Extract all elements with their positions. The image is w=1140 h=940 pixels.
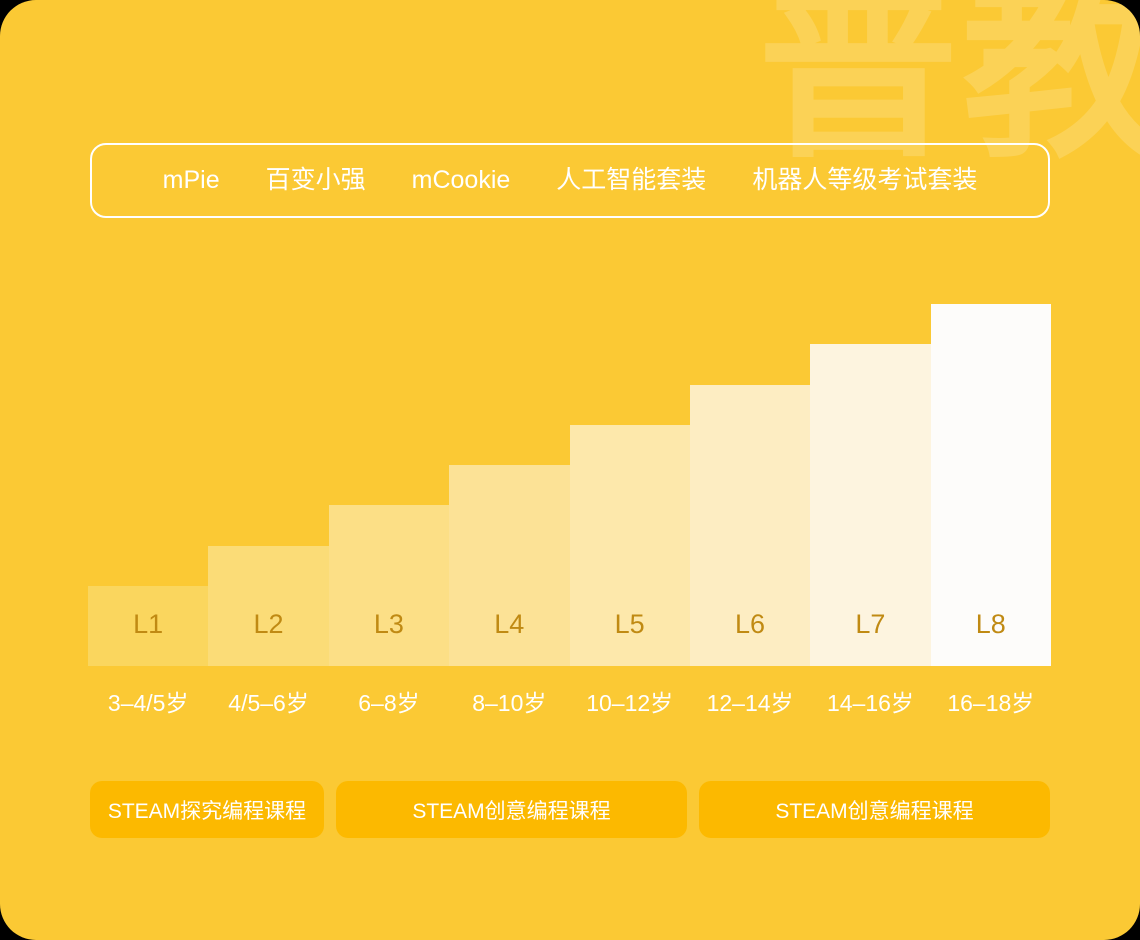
age-label: 16–18岁: [931, 692, 1051, 715]
bar-label: L7: [855, 611, 885, 666]
bar-l2: L2: [208, 546, 328, 666]
age-label: 12–14岁: [690, 692, 810, 715]
bar-label: L8: [976, 611, 1006, 666]
bar-label: L5: [615, 611, 645, 666]
bar-l3: L3: [329, 505, 449, 666]
age-range-axis: 3–4/5岁4/5–6岁6–8岁8–10岁10–12岁12–14岁14–16岁1…: [88, 692, 1051, 715]
bar-label: L6: [735, 611, 765, 666]
course-level-infographic: 普教 mPie百变小强mCookie人工智能套装机器人等级考试套装 L1L2L3…: [0, 0, 1140, 940]
bar-l6: L6: [690, 385, 810, 667]
product-tab-bar: mPie百变小强mCookie人工智能套装机器人等级考试套装: [90, 143, 1050, 218]
tab-item-3[interactable]: 人工智能套装: [556, 168, 706, 193]
age-label: 3–4/5岁: [88, 692, 208, 715]
tab-item-4[interactable]: 机器人等级考试套装: [752, 168, 977, 193]
age-label: 14–16岁: [810, 692, 930, 715]
tab-item-2[interactable]: mCookie: [412, 168, 511, 193]
bar-l4: L4: [449, 465, 569, 666]
bar-l8: L8: [931, 304, 1051, 666]
course-button-0[interactable]: STEAM探究编程课程: [90, 781, 324, 838]
bar-label: L2: [254, 611, 284, 666]
age-label: 8–10岁: [449, 692, 569, 715]
age-label: 10–12岁: [570, 692, 690, 715]
level-bar-chart: L1L2L3L4L5L6L7L8: [88, 290, 1051, 666]
age-label: 6–8岁: [329, 692, 449, 715]
bar-label: L1: [133, 611, 163, 666]
tab-item-0[interactable]: mPie: [163, 168, 220, 193]
bar-l1: L1: [88, 586, 208, 666]
bar-l7: L7: [810, 344, 930, 666]
bar-l5: L5: [570, 425, 690, 666]
bar-label: L4: [494, 611, 524, 666]
age-label: 4/5–6岁: [208, 692, 328, 715]
bar-label: L3: [374, 611, 404, 666]
course-button-2[interactable]: STEAM创意编程课程: [699, 781, 1050, 838]
tab-item-1[interactable]: 百变小强: [266, 168, 366, 193]
course-button-1[interactable]: STEAM创意编程课程: [336, 781, 687, 838]
bar-series: L1L2L3L4L5L6L7L8: [88, 290, 1051, 666]
course-track-buttons: STEAM探究编程课程STEAM创意编程课程STEAM创意编程课程: [90, 781, 1050, 838]
